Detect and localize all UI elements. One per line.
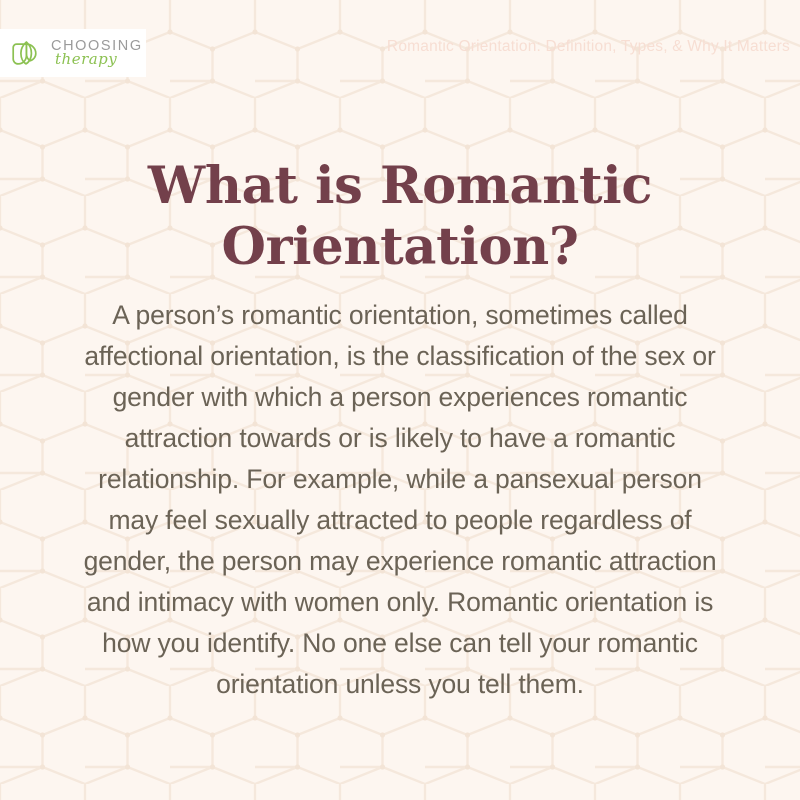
logo-wordmark: CHOOSING therapy (51, 39, 143, 68)
logo-secondary-text: therapy (55, 52, 143, 67)
header-bar: CHOOSING therapy Romantic Orientation: D… (0, 0, 800, 100)
main-content: What is Romantic Orientation? A person’s… (0, 0, 800, 800)
article-breadcrumb-title: Romantic Orientation: Definition, Types,… (387, 38, 790, 56)
body-paragraph: A person’s romantic orientation, sometim… (78, 295, 722, 705)
brand-logo[interactable]: CHOOSING therapy (0, 29, 146, 77)
leaf-logo-icon (10, 37, 44, 69)
infographic-canvas: CHOOSING therapy Romantic Orientation: D… (0, 0, 800, 800)
page-title: What is Romantic Orientation? (60, 156, 740, 277)
